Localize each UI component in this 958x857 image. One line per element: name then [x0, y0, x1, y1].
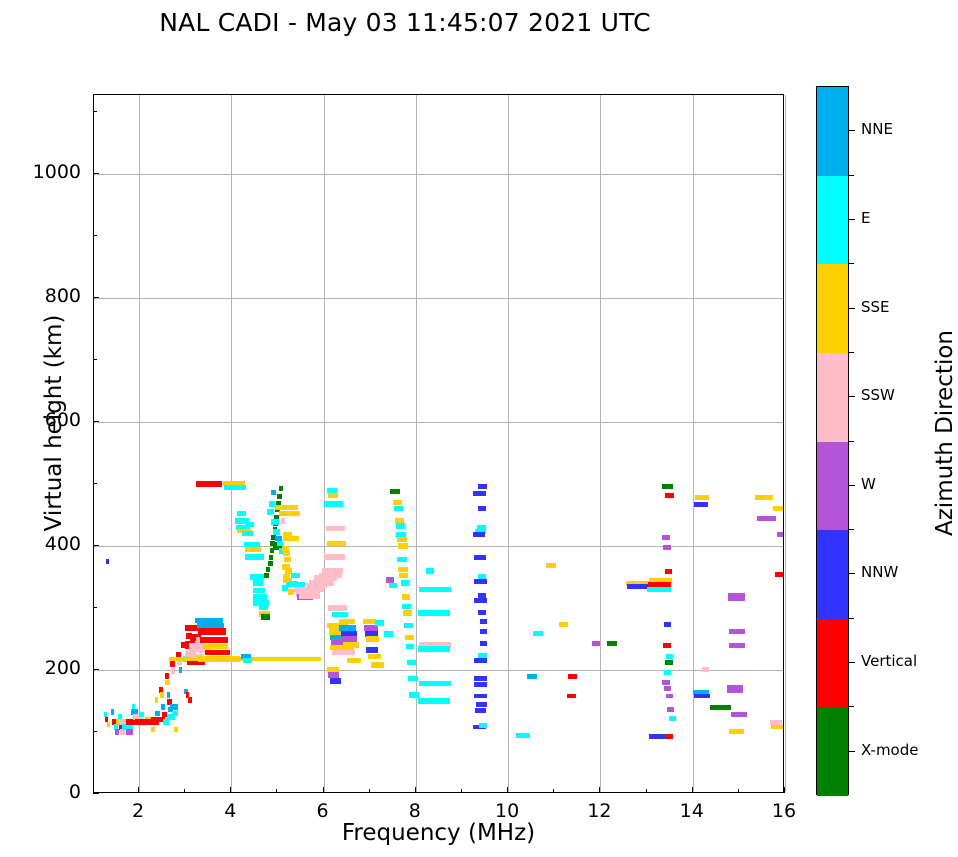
echo-point [559, 622, 567, 627]
echo-point [155, 711, 160, 717]
echo-point [404, 623, 412, 629]
echo-point [174, 727, 179, 733]
echo-point [478, 610, 486, 615]
x-tick-label: 12 [569, 800, 629, 822]
x-tick-label: 2 [108, 800, 168, 822]
echo-point [245, 547, 261, 553]
echo-point [299, 592, 320, 598]
echo-point [408, 676, 417, 682]
echo-point [731, 712, 748, 717]
echo-point [163, 719, 169, 725]
echo-point [729, 643, 746, 648]
echo-point [390, 489, 399, 495]
echo-point [328, 605, 346, 611]
echo-point [332, 612, 348, 617]
echo-point [665, 493, 674, 498]
echo-point [267, 509, 273, 515]
echo-point [664, 670, 671, 675]
echo-point [205, 650, 230, 656]
colorbar-tick [849, 751, 855, 752]
echo-point [200, 637, 228, 643]
colorbar-segment-sse[interactable] [817, 264, 848, 353]
echo-point [775, 572, 783, 577]
colorbar-label-vertical: Vertical [861, 652, 917, 670]
colorbar-label-nnw: NNW [861, 563, 898, 581]
echo-point [479, 723, 487, 728]
x-tick-major [784, 787, 785, 793]
echo-point [727, 685, 744, 693]
echo-point [327, 541, 345, 546]
colorbar-boundary-tick [849, 263, 854, 264]
colorbar-boundary-tick [849, 352, 854, 353]
echo-point [476, 702, 487, 707]
colorbar-segment-w[interactable] [817, 442, 848, 531]
echo-point [224, 485, 246, 490]
x-tick-label: 14 [662, 800, 722, 822]
x-tick-minor [553, 789, 554, 793]
x-tick-major [599, 787, 600, 793]
echo-point [155, 697, 159, 703]
echo-point [402, 604, 410, 610]
echo-point [324, 501, 342, 507]
echo-point [592, 641, 600, 646]
x-tick-label: 6 [293, 800, 353, 822]
colorbar-segment-vertical[interactable] [817, 619, 848, 708]
x-tick-major [230, 787, 231, 793]
echo-point [253, 594, 267, 600]
colorbar-tick [849, 396, 855, 397]
echo-point [341, 636, 357, 642]
echo-point [170, 661, 175, 667]
echo-point [516, 733, 530, 738]
echo-point [371, 662, 384, 668]
colorbar-tick [849, 662, 855, 663]
echo-point [322, 568, 343, 574]
echo-point [398, 543, 407, 549]
echo-point [402, 594, 410, 600]
echo-point [347, 658, 361, 664]
echo-point [474, 658, 487, 663]
echo-point [366, 636, 380, 642]
x-tick-minor [276, 789, 277, 793]
echo-point [279, 486, 284, 491]
echo-point [662, 535, 669, 540]
x-axis-title: Frequency (MHz) [93, 820, 784, 846]
echo-point [757, 516, 775, 521]
x-tick-minor [646, 789, 647, 793]
echo-point [139, 712, 145, 718]
echo-point [665, 569, 672, 574]
x-tick-minor [184, 789, 185, 793]
echo-point [568, 674, 577, 679]
echo-point [242, 531, 254, 536]
echo-point [291, 573, 300, 578]
echo-point [271, 490, 277, 496]
echo-point [777, 532, 783, 537]
y-tick-major [93, 793, 99, 794]
echo-point [330, 678, 342, 684]
echo-point [319, 573, 342, 579]
y-tick-major [93, 669, 99, 670]
echo-point [328, 672, 340, 678]
colorbar-label-w: W [861, 475, 876, 493]
echo-point [394, 506, 403, 512]
echo-point [271, 519, 279, 525]
echo-point [419, 681, 451, 687]
echo-point [151, 727, 156, 733]
echo-point [533, 631, 543, 636]
x-tick-label: 10 [477, 800, 537, 822]
echo-point [474, 682, 488, 687]
echo-point [401, 580, 409, 586]
echo-point [107, 722, 110, 728]
echo-point [269, 501, 275, 507]
echo-point [664, 686, 671, 691]
x-tick-minor [738, 789, 739, 793]
echo-point [364, 625, 378, 631]
echo-point [326, 526, 344, 531]
colorbar-boundary-tick [849, 618, 854, 619]
y-tick-minor [93, 607, 97, 608]
echo-point [273, 529, 280, 535]
echo-point [126, 729, 133, 735]
echo-point [396, 523, 405, 529]
echo-point [473, 491, 486, 496]
y-tick-label: 0 [11, 781, 81, 803]
colorbar-label-e: E [861, 209, 870, 227]
echo-point [106, 559, 109, 565]
echo-point [339, 619, 355, 625]
x-tick-major [415, 787, 416, 793]
echo-point [179, 667, 183, 673]
echo-point [120, 729, 126, 735]
x-tick-major [138, 787, 139, 793]
echo-point [771, 725, 783, 730]
echo-point [279, 511, 300, 516]
echo-point [245, 522, 254, 527]
echo-point [662, 484, 673, 489]
echo-point [546, 563, 556, 568]
echo-point [405, 635, 413, 641]
echo-point [475, 708, 486, 713]
colorbar-boundary-tick [849, 175, 854, 176]
echo-point [418, 698, 450, 704]
echo-point [277, 494, 282, 499]
echo-point [702, 667, 709, 672]
echo-point [477, 525, 486, 530]
colorbar-segment-nnw[interactable] [817, 530, 848, 619]
echo-point [664, 622, 671, 627]
echo-point [261, 614, 270, 620]
echo-point [474, 555, 486, 560]
echo-point [281, 518, 286, 524]
echo-point [755, 495, 773, 500]
colorbar-boundary-tick [849, 441, 854, 442]
x-tick-label: 4 [200, 800, 260, 822]
echo-point [115, 729, 119, 735]
echo-point [332, 650, 355, 656]
echo-point [393, 500, 402, 506]
y-tick-label: 1000 [11, 161, 81, 183]
echo-point [728, 593, 745, 601]
y-tick-minor [93, 731, 97, 732]
colorbar-tick [849, 219, 855, 220]
colorbar-label-sse: SSE [861, 298, 890, 316]
echo-point [197, 623, 225, 628]
echo-point [397, 557, 406, 563]
echo-point [474, 676, 488, 681]
echo-point [245, 554, 263, 560]
echo-point [368, 654, 381, 660]
echo-point [264, 573, 270, 579]
echo-point [167, 692, 171, 698]
echo-point [478, 484, 487, 489]
x-tick-major [507, 787, 508, 793]
echo-point [283, 536, 299, 541]
echo-point [198, 628, 226, 634]
echo-point [607, 641, 616, 646]
y-tick-major [93, 545, 99, 546]
echo-point [418, 646, 450, 652]
echo-point [567, 694, 576, 699]
y-tick-minor [93, 359, 97, 360]
echo-point [647, 587, 671, 592]
echo-point [729, 629, 746, 634]
x-tick-minor [461, 789, 462, 793]
echo-point [328, 493, 338, 498]
echo-point [419, 587, 451, 593]
colorbar-title: Azimuth Direction [932, 283, 958, 583]
echo-point [407, 660, 416, 666]
colorbar-boundary-tick [849, 706, 854, 707]
colorbar-tick [849, 130, 855, 131]
echo-point [710, 705, 730, 710]
echo-point [253, 580, 262, 586]
echo-point [339, 625, 355, 631]
echo-point [269, 555, 274, 560]
echo-point [473, 532, 485, 537]
y-tick-label: 200 [11, 657, 81, 679]
x-tick-major [692, 787, 693, 793]
echo-point [203, 644, 228, 650]
echo-point [375, 620, 384, 626]
echo-point [283, 551, 290, 556]
echo-point [165, 680, 170, 686]
echo-point [406, 644, 414, 650]
echo-point [527, 674, 537, 679]
colorbar-tick [849, 308, 855, 309]
colorbar[interactable] [816, 86, 849, 795]
echo-point [480, 619, 487, 624]
x-tick-major [323, 787, 324, 793]
ionogram-plot [93, 94, 784, 793]
echo-point [384, 631, 393, 637]
echo-point [324, 554, 345, 560]
echo-point [266, 567, 271, 572]
echo-point [160, 692, 164, 698]
colorbar-segment-nne[interactable] [817, 87, 848, 176]
echo-point [662, 680, 669, 685]
echo-point [268, 561, 273, 566]
echo-point [669, 716, 676, 721]
echo-point [171, 668, 175, 674]
x-tick-label: 16 [754, 800, 814, 822]
echo-point [161, 704, 166, 710]
x-tick-label: 8 [385, 800, 445, 822]
echo-point [366, 647, 379, 653]
echo-point [398, 567, 408, 573]
echo-point [480, 641, 487, 646]
echo-point [729, 729, 744, 734]
y-tick-major [93, 421, 99, 422]
echo-point [478, 506, 486, 511]
echo-point [663, 643, 670, 648]
echo-point [284, 557, 290, 563]
colorbar-label-x-mode: X-mode [861, 741, 918, 759]
echo-point [237, 511, 246, 516]
echo-point [397, 537, 406, 543]
y-tick-major [93, 173, 99, 174]
echo-point [695, 495, 709, 500]
echo-point [389, 583, 397, 589]
echo-point [480, 629, 487, 634]
echo-point [667, 707, 674, 712]
colorbar-tick [849, 573, 855, 574]
y-tick-minor [93, 235, 97, 236]
echo-point [426, 568, 434, 574]
echo-point [188, 697, 192, 703]
colorbar-segment-ssw[interactable] [817, 353, 848, 442]
echo-point [666, 694, 673, 699]
colorbar-segment-e[interactable] [817, 176, 848, 265]
echo-point [409, 692, 418, 698]
y-tick-minor [93, 483, 97, 484]
echo-point [418, 610, 450, 616]
echo-canvas [94, 95, 783, 792]
echo-point [694, 502, 708, 507]
echo-point [243, 658, 252, 663]
echo-point [665, 660, 673, 665]
echo-point [309, 580, 334, 586]
echo-point [694, 694, 710, 699]
echo-point [399, 573, 408, 579]
y-axis-title: Virtual height (km) [41, 273, 67, 573]
echo-point [250, 574, 264, 580]
echo-point [172, 711, 178, 717]
colorbar-tick [849, 485, 855, 486]
page-title: NAL CADI - May 03 11:45:07 2021 UTC [0, 8, 810, 37]
colorbar-label-ssw: SSW [861, 386, 895, 404]
echo-point [170, 704, 177, 710]
echo-point [165, 673, 169, 679]
x-tick-minor [369, 789, 370, 793]
echo-point [253, 588, 265, 594]
y-tick-minor [93, 111, 97, 112]
echo-point [474, 694, 487, 699]
echo-point [343, 642, 359, 648]
y-tick-major [93, 297, 99, 298]
colorbar-boundary-tick [849, 529, 854, 530]
echo-point [474, 579, 488, 584]
echo-point [259, 605, 268, 610]
colorbar-segment-x-mode[interactable] [817, 707, 848, 796]
colorbar-label-nne: NNE [861, 120, 893, 138]
echo-point [474, 598, 488, 603]
echo-point [666, 734, 673, 739]
echo-point [275, 505, 298, 510]
echo-point [196, 481, 223, 487]
echo-point [663, 545, 670, 550]
gridline-vertical [785, 95, 786, 792]
echo-point [111, 709, 114, 715]
echo-point [666, 654, 673, 659]
echo-point [403, 610, 411, 616]
echo-point [773, 506, 783, 511]
